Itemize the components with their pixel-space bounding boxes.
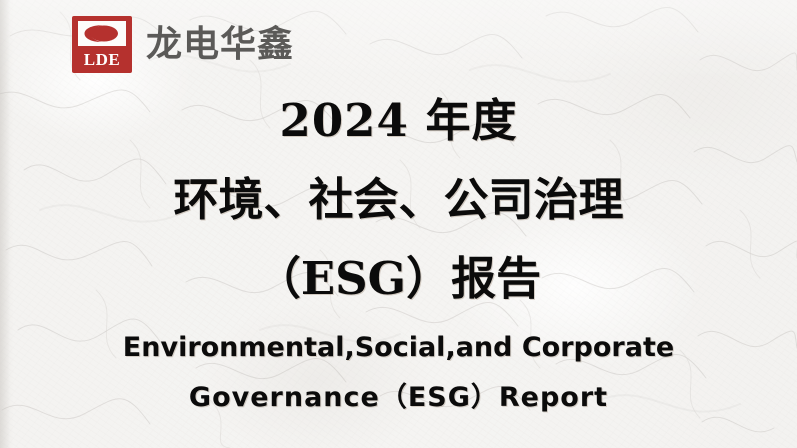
logo-swoosh-panel: [78, 21, 126, 46]
subtitle-line-2: Governance（ESG）Report: [0, 380, 797, 416]
title-line-pillars: 环境、社会、公司治理: [0, 171, 797, 229]
swoosh-ellipse-icon: [82, 23, 122, 44]
title-line-esg: （ESG）报告: [0, 250, 797, 308]
company-logo: LDE: [72, 16, 132, 73]
subtitle-line-1: Environmental,Social,and Corporate: [0, 330, 797, 366]
report-cover-page: LDE 龙电华鑫 2024 年度 环境、社会、公司治理 （ESG）报告 Envi…: [0, 0, 797, 448]
report-title-block: 2024 年度 环境、社会、公司治理 （ESG）报告: [0, 92, 797, 308]
logo-lde-text: LDE: [84, 51, 120, 68]
report-subtitle-block: Environmental,Social,and Corporate Gover…: [0, 330, 797, 416]
company-name-cn: 龙电华鑫: [146, 27, 294, 63]
title-line-year: 2024 年度: [0, 92, 797, 150]
brand-lockup: LDE 龙电华鑫: [72, 16, 294, 73]
